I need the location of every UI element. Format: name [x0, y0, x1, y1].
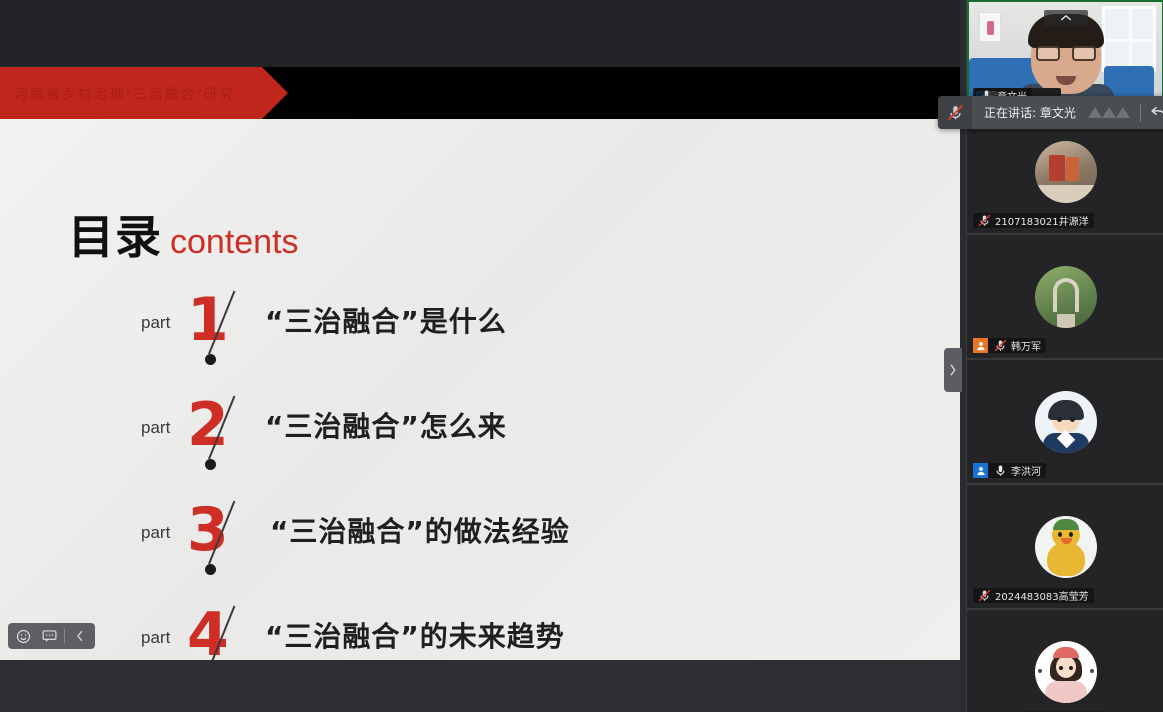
part-text: “三治融合”怎么来	[265, 405, 507, 445]
avatar	[1035, 141, 1097, 203]
panel-collapse-handle[interactable]	[944, 348, 962, 392]
cohost-badge-icon	[973, 463, 988, 478]
mic-muted-icon	[978, 214, 991, 227]
participant-namebar: 2107183021井源洋	[973, 213, 1094, 228]
part-label: part	[141, 313, 170, 333]
window-shape	[1102, 6, 1156, 72]
person-glasses	[1036, 46, 1096, 62]
annotation-icon[interactable]	[38, 625, 60, 647]
emoji-icon[interactable]	[12, 625, 34, 647]
wall-poster	[979, 12, 1001, 42]
slide-banner-text: 河南省乡村治理“三治融合”研究	[14, 84, 235, 104]
slide-banner: 河南省乡村治理“三治融合”研究	[0, 67, 960, 119]
avatar	[1035, 516, 1097, 578]
speaking-notification[interactable]: 正在讲话: 章文光	[938, 96, 1163, 129]
participant-tile[interactable]: 韩万军	[967, 235, 1163, 360]
list-item: part 1 “三治融合”是什么	[0, 271, 960, 376]
slide-body: 目录 contents part 1 “三治融合”是什么 part 2	[0, 119, 960, 660]
mic-muted-icon	[994, 339, 1007, 352]
list-item: part 2 “三治融合”怎么来	[0, 376, 960, 481]
host-badge-icon	[973, 338, 988, 353]
chevron-up-icon[interactable]	[1044, 10, 1088, 26]
meeting-window: 00:08:14 河南省乡村治理“三治融合”研究 目录 contents par…	[0, 0, 1163, 712]
tools-divider	[64, 629, 65, 643]
participant-name: 李洪河	[1011, 463, 1041, 478]
list-item: part 3 “三治融合”的做法经验	[0, 481, 960, 586]
participant-name: 韩万军	[1011, 338, 1041, 353]
speaking-label: 正在讲话: 章文光	[972, 104, 1086, 121]
slide-contents-list: part 1 “三治融合”是什么 part 2 “三治融合”怎么来	[0, 271, 960, 660]
avatar	[1035, 266, 1097, 328]
part-text: “三治融合”是什么	[265, 300, 507, 340]
participant-video-tile[interactable]: 章文光	[967, 0, 1163, 110]
participant-namebar: 2024483083高莹芳	[973, 588, 1094, 603]
participant-namebar: 李洪河	[973, 463, 1046, 478]
part-label: part	[141, 418, 170, 438]
presentation-slide: 河南省乡村治理“三治融合”研究 目录 contents part 1 “三治融合…	[0, 67, 960, 660]
mic-muted-icon[interactable]	[938, 96, 972, 129]
participant-name: 2024483083高莹芳	[995, 588, 1089, 603]
participant-namebar: 韩万军	[973, 338, 1046, 353]
list-item: part 4 “三治融合”的未来趋势	[0, 586, 960, 660]
mic-unmuted-icon	[994, 464, 1007, 477]
audio-wave-icon	[1086, 104, 1140, 122]
stage-letterbox-bottom	[0, 660, 960, 712]
part-text: “三治融合”的未来趋势	[265, 615, 565, 655]
part-label: part	[141, 628, 170, 648]
participant-tile[interactable]: 2024483083高莹芳	[967, 485, 1163, 610]
shared-screen-stage: 河南省乡村治理“三治融合”研究 目录 contents part 1 “三治融合…	[0, 0, 960, 712]
slide-title-cn: 目录	[68, 201, 162, 267]
part-label: part	[141, 523, 170, 543]
participant-tile[interactable]	[967, 610, 1163, 712]
return-arrow-icon[interactable]	[1141, 106, 1163, 120]
part-dot	[205, 564, 216, 575]
slide-title-en: contents	[170, 223, 299, 262]
chevron-left-icon[interactable]	[69, 625, 91, 647]
part-dot	[205, 459, 216, 470]
participant-name: 2107183021井源洋	[995, 213, 1089, 228]
part-text: “三治融合”的做法经验	[270, 510, 570, 550]
slide-title: 目录 contents	[68, 201, 299, 267]
slide-tools[interactable]	[8, 623, 95, 649]
avatar	[1035, 641, 1097, 703]
part-dot	[205, 354, 216, 365]
stage-letterbox-top	[0, 0, 960, 67]
participant-tile[interactable]: 李洪河	[967, 360, 1163, 485]
avatar	[1035, 391, 1097, 453]
mic-muted-icon	[978, 589, 991, 602]
